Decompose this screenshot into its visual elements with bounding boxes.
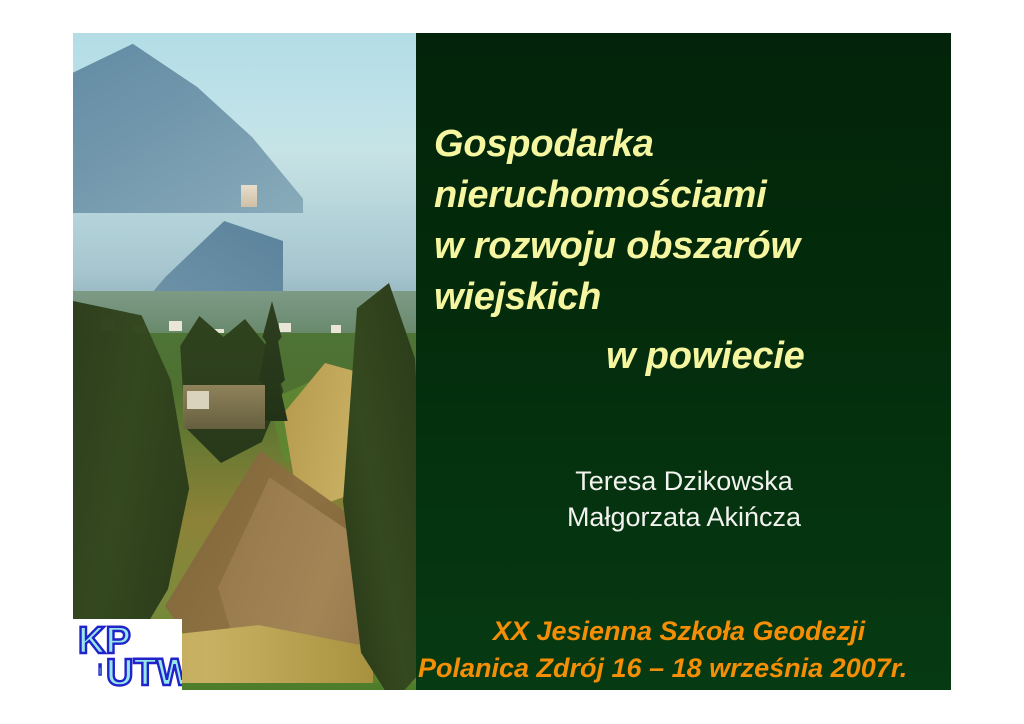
kp-utw-logo: KP i UTW — [72, 619, 182, 690]
photo-house — [279, 323, 291, 332]
presentation-slide: Rural mountain valley landscape with haz… — [0, 0, 1024, 724]
photo-barn — [187, 391, 209, 409]
landscape-photo: Rural mountain valley landscape with haz… — [73, 33, 416, 690]
title-line-2: nieruchomościami — [434, 170, 944, 221]
logo-text-i: i — [98, 662, 102, 679]
title-panel: Gospodarka nieruchomościami w rozwoju ob… — [416, 33, 951, 690]
slide-title: Gospodarka nieruchomościami w rozwoju ob… — [434, 119, 944, 382]
title-line-1: Gospodarka — [434, 119, 944, 170]
photo-house — [169, 321, 182, 331]
photo-house — [331, 325, 341, 333]
title-line-3: w rozwoju obszarów — [434, 221, 944, 272]
author-name-2: Małgorzata Akińcza — [434, 499, 934, 535]
author-list: Teresa Dzikowska Małgorzata Akińcza — [434, 463, 934, 535]
event-name: XX Jesienna Szkoła Geodezji — [416, 613, 951, 650]
title-line-5: w powiecie — [434, 331, 944, 382]
author-name-1: Teresa Dzikowska — [434, 463, 934, 499]
event-info: XX Jesienna Szkoła Geodezji Polanica Zdr… — [416, 613, 951, 687]
kp-utw-logo-graphic: KP i UTW — [72, 619, 182, 690]
event-location-date: Polanica Zdrój 16 – 18 września 2007r. — [416, 650, 951, 687]
photo-hilltop-building — [241, 185, 257, 207]
title-line-4: wiejskich — [434, 272, 944, 323]
logo-text-utw: UTW — [106, 652, 182, 690]
